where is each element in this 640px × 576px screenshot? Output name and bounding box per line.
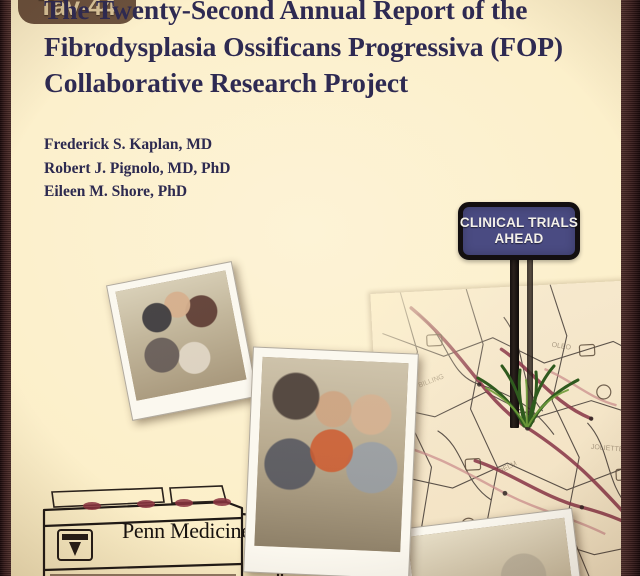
sign-line-2: AHEAD [494, 231, 543, 247]
title-line-2: Fibrodysplasia Ossificans Progressiva (F… [44, 29, 604, 66]
penn-medicine-wordmark: Penn Medicine [122, 518, 251, 544]
author-3: Eileen M. Shore, PhD [44, 180, 230, 204]
author-2: Robert J. Pignolo, MD, PhD [44, 157, 230, 181]
sign-line-1: CLINICAL TRIALS [460, 215, 578, 231]
title-line-3: Collaborative Research Project [44, 65, 604, 102]
grass-foliage-icon [462, 346, 592, 428]
third-photo-image [407, 518, 576, 576]
title-line-1: The Twenty-Second Annual Report of the [44, 0, 604, 29]
sign-board: CLINICAL TRIALS AHEAD [458, 202, 580, 260]
author-list: Frederick S. Kaplan, MD Robert J. Pignol… [44, 133, 230, 204]
clinical-trials-sign: CLINICAL TRIALS AHEAD [452, 198, 592, 428]
page-title: The Twenty-Second Annual Report of the F… [44, 0, 604, 102]
report-cover-page: BILLING OLEO DELM JOLIETTE CHILFORD SUND… [0, 0, 640, 576]
family-photo-image [115, 270, 246, 400]
family-photo [106, 261, 258, 421]
author-1: Frederick S. Kaplan, MD [44, 133, 230, 157]
group-photo-image [254, 357, 408, 552]
group-photo [243, 346, 419, 576]
